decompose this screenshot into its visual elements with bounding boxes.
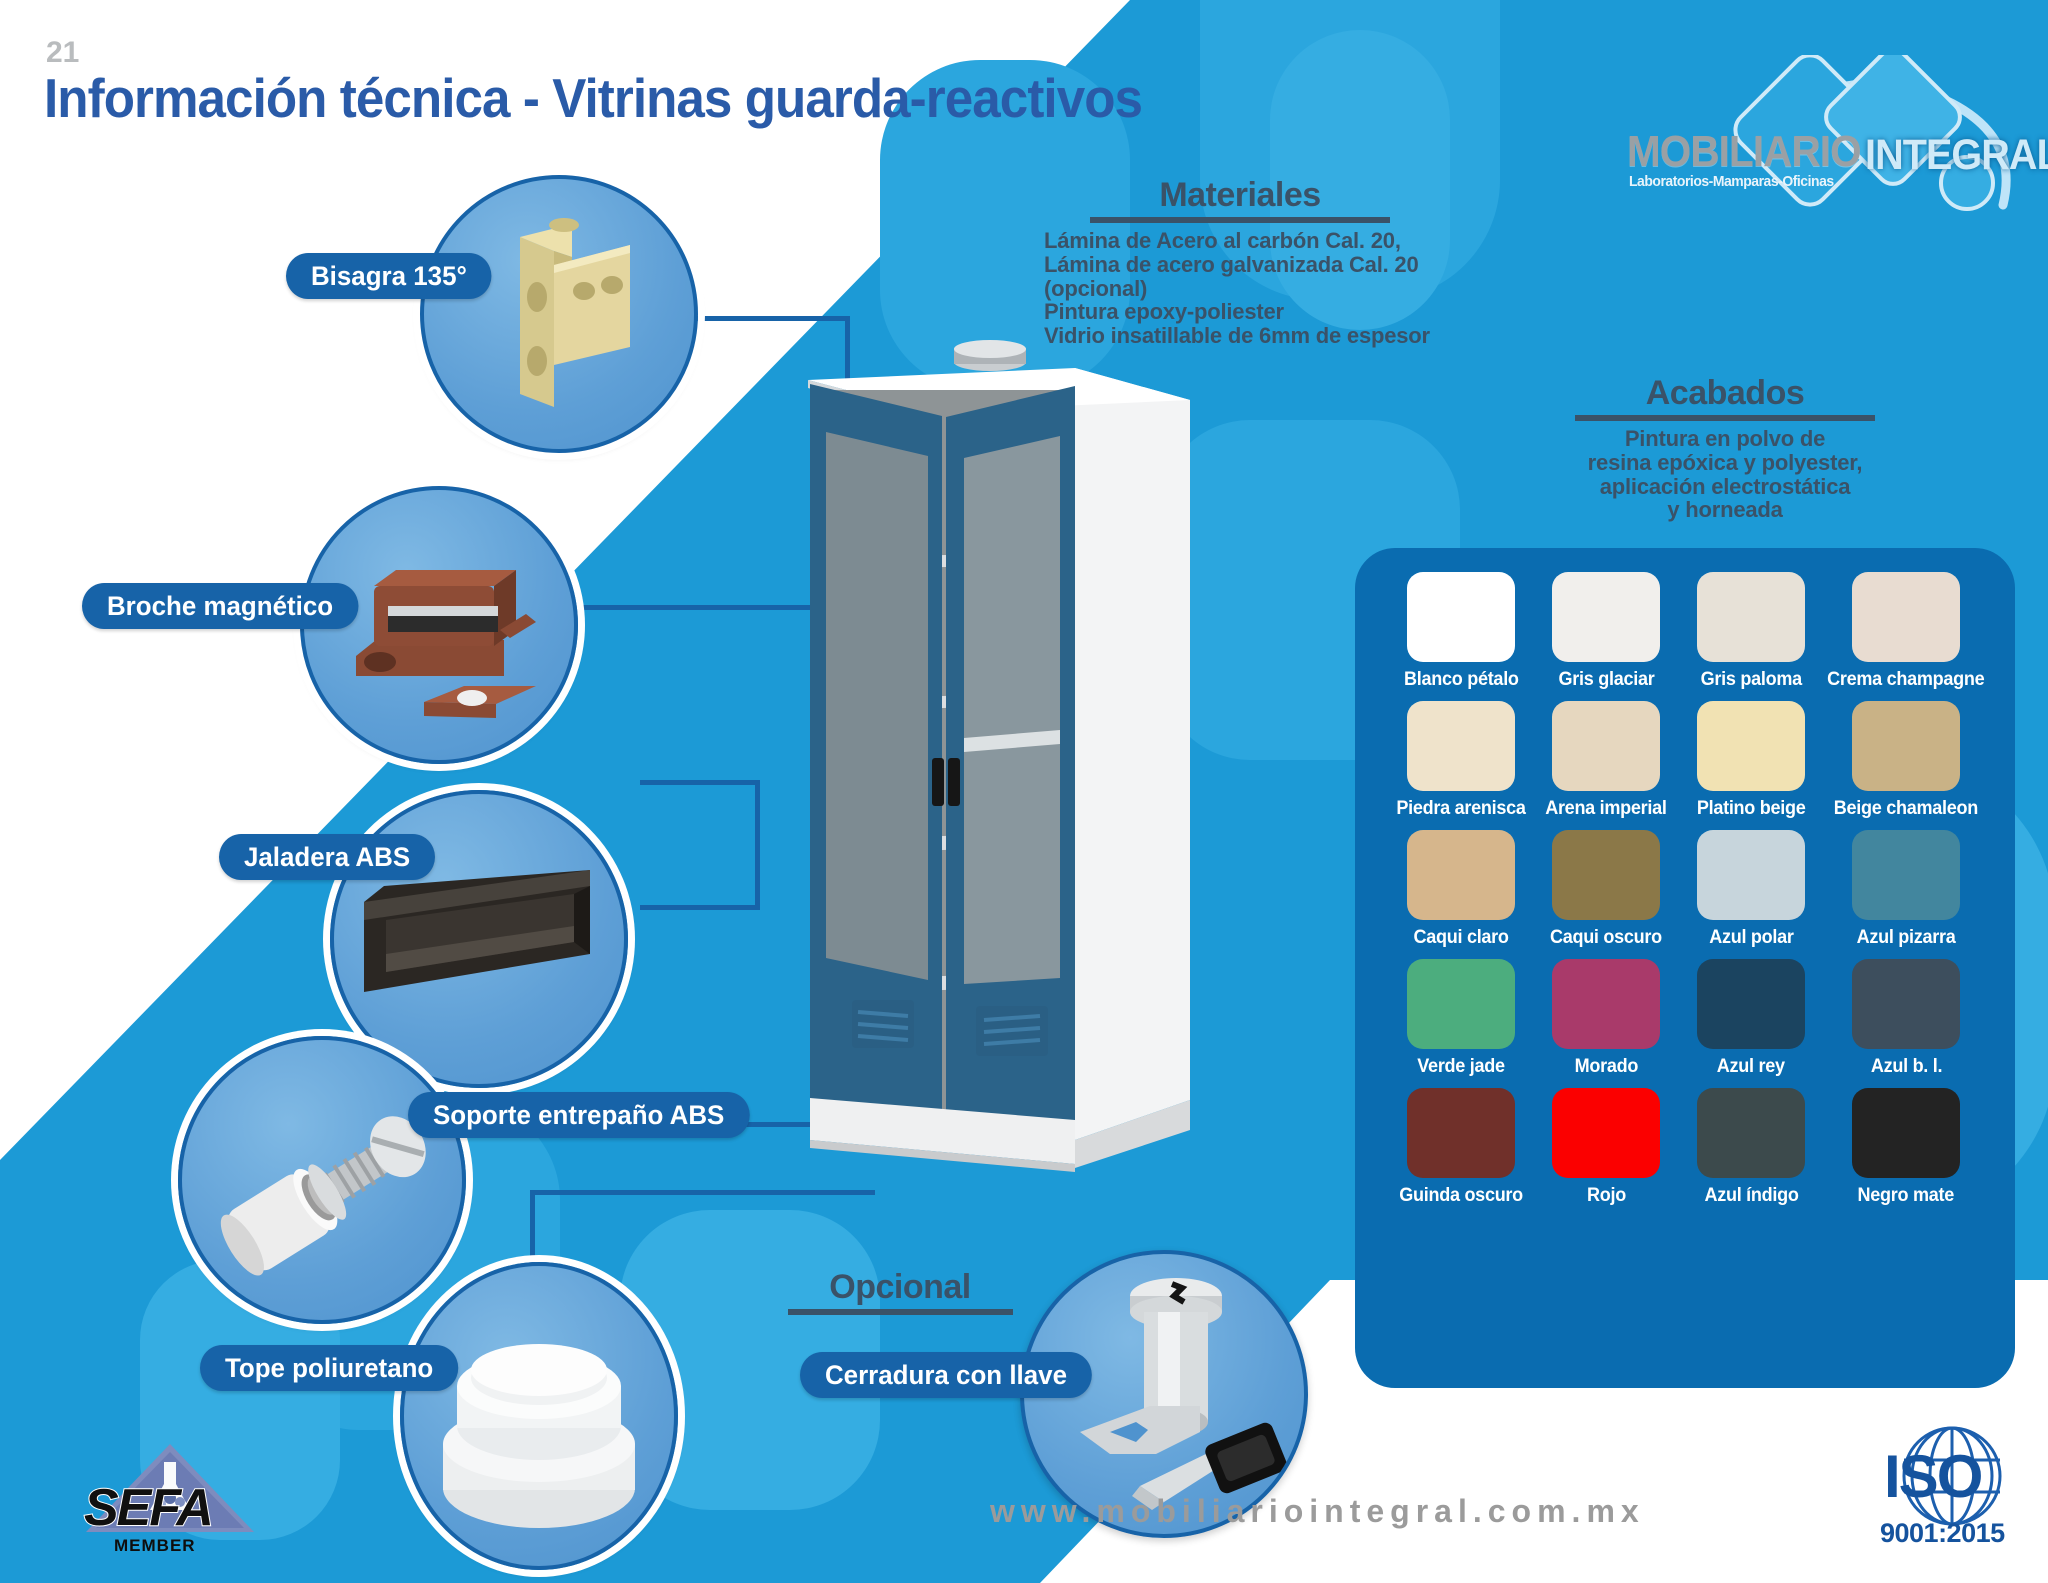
materiales-line: Lámina de Acero al carbón Cal. 20, xyxy=(1044,229,1450,253)
swatch-label: Azul b. l. xyxy=(1871,1056,1942,1078)
color-swatch-panel: Blanco pétalo Gris glaciar Gris paloma C… xyxy=(1355,548,2015,1388)
brand-logo: MOBILIARIO INTEGRAL Laboratorios-Mampara… xyxy=(1615,55,2035,215)
acabados-line: y horneada xyxy=(1510,498,1940,522)
callout-label-broche[interactable]: Broche magnético xyxy=(82,583,358,629)
swatch-chip xyxy=(1697,1088,1805,1178)
color-swatch[interactable]: Crema champagne xyxy=(1823,572,1989,691)
swatch-chip xyxy=(1407,1088,1515,1178)
swatch-chip xyxy=(1552,572,1660,662)
swatch-label: Crema champagne xyxy=(1828,669,1985,691)
acabados-title: Acabados xyxy=(1510,374,1940,413)
callout-label-cerradura[interactable]: Cerradura con llave xyxy=(800,1352,1092,1398)
color-swatch[interactable]: Azul pizarra xyxy=(1823,830,1989,949)
color-swatch[interactable]: Guinda oscuro xyxy=(1389,1088,1534,1207)
swatch-chip xyxy=(1407,572,1515,662)
swatch-chip xyxy=(1852,1088,1960,1178)
website-url[interactable]: www.mobiliariointegral.com.mx xyxy=(990,1493,1645,1530)
color-swatch[interactable]: Blanco pétalo xyxy=(1389,572,1534,691)
page-number: 21 xyxy=(46,36,79,70)
swatch-chip xyxy=(1407,830,1515,920)
swatch-label: Platino beige xyxy=(1697,798,1806,820)
color-swatch[interactable]: Caqui claro xyxy=(1389,830,1534,949)
connector-tope-h xyxy=(530,1190,875,1195)
materiales-body: Lámina de Acero al carbón Cal. 20, Lámin… xyxy=(1044,229,1450,348)
swatch-chip xyxy=(1552,830,1660,920)
color-swatch[interactable]: Azul rey xyxy=(1679,959,1824,1078)
iso-wordmark: ISO xyxy=(1884,1442,1981,1511)
callout-label-tope[interactable]: Tope poliuretano xyxy=(200,1345,458,1391)
swatch-label: Blanco pétalo xyxy=(1404,669,1519,691)
sefa-logo: SEFA MEMBER xyxy=(78,1440,268,1560)
color-swatch[interactable]: Gris glaciar xyxy=(1534,572,1679,691)
swatch-chip xyxy=(1697,959,1805,1049)
color-swatch[interactable]: Azul polar xyxy=(1679,830,1824,949)
swatch-label: Morado xyxy=(1574,1056,1637,1078)
acabados-line: resina epóxica y polyester, xyxy=(1510,451,1940,475)
swatch-label: Arena imperial xyxy=(1546,798,1667,820)
color-swatch[interactable]: Gris paloma xyxy=(1679,572,1824,691)
callout-label-bisagra[interactable]: Bisagra 135° xyxy=(286,253,492,299)
swatch-chip xyxy=(1852,830,1960,920)
iso-certification-badge: ISO 9001:2015 xyxy=(1878,1420,2028,1570)
acabados-section: Acabados Pintura en polvo de resina epóx… xyxy=(1510,374,1940,522)
materiales-line: Pintura epoxy-poliester xyxy=(1044,300,1450,324)
swatch-label: Gris glaciar xyxy=(1558,669,1654,691)
color-swatch[interactable]: Arena imperial xyxy=(1534,701,1679,820)
swatch-label: Guinda oscuro xyxy=(1400,1185,1524,1207)
logo-wordmark-2: INTEGRAL xyxy=(1865,131,2048,180)
color-swatch[interactable]: Negro mate xyxy=(1823,1088,1989,1207)
page-title: Información técnica - Vitrinas guarda-re… xyxy=(44,66,1142,130)
sefa-member-label: MEMBER xyxy=(114,1536,196,1556)
connector-bisagra-h1 xyxy=(690,316,850,321)
materiales-line: Lámina de acero galvanizada Cal. 20 (opc… xyxy=(1044,253,1450,301)
color-swatch[interactable]: Verde jade xyxy=(1389,959,1534,1078)
connector-jaladera-h2 xyxy=(640,905,760,910)
polyurethane-bumper-icon xyxy=(404,1266,674,1566)
logo-wordmark: MOBILIARIO xyxy=(1627,127,1861,177)
swatch-label: Azul polar xyxy=(1709,927,1793,949)
swatch-label: Piedra arenisca xyxy=(1397,798,1526,820)
swatch-chip xyxy=(1852,572,1960,662)
swatch-label: Beige chamaleon xyxy=(1834,798,1978,820)
poster-canvas: 21 Información técnica - Vitrinas guarda… xyxy=(0,0,2048,1583)
swatch-chip xyxy=(1697,830,1805,920)
acabados-rule xyxy=(1575,415,1875,421)
swatch-chip xyxy=(1552,701,1660,791)
acabados-line: Pintura en polvo de xyxy=(1510,427,1940,451)
hinge-icon xyxy=(424,179,694,449)
callout-circle-soporte xyxy=(178,1036,466,1324)
connector-tope-v xyxy=(530,1190,535,1270)
swatch-label: Azul índigo xyxy=(1704,1185,1798,1207)
swatch-chip xyxy=(1552,1088,1660,1178)
swatch-chip xyxy=(1697,701,1805,791)
swatch-chip xyxy=(1697,572,1805,662)
color-swatch[interactable]: Beige chamaleon xyxy=(1823,701,1989,820)
swatch-label: Rojo xyxy=(1587,1185,1626,1207)
color-swatch[interactable]: Azul b. l. xyxy=(1823,959,1989,1078)
acabados-line: aplicación electrostática xyxy=(1510,475,1940,499)
opcional-title: Opcional xyxy=(770,1268,1030,1307)
cabinet-illustration xyxy=(790,340,1200,1180)
color-swatch[interactable]: Rojo xyxy=(1534,1088,1679,1207)
swatch-chip xyxy=(1407,701,1515,791)
swatch-chip xyxy=(1552,959,1660,1049)
opcional-rule xyxy=(788,1309,1013,1315)
swatch-chip xyxy=(1852,701,1960,791)
swatch-label: Verde jade xyxy=(1418,1056,1505,1078)
color-swatch[interactable]: Caqui oscuro xyxy=(1534,830,1679,949)
swatch-label: Gris paloma xyxy=(1700,669,1801,691)
swatch-label: Azul pizarra xyxy=(1857,927,1956,949)
sefa-wordmark: SEFA xyxy=(84,1478,212,1538)
materiales-rule xyxy=(1090,217,1390,223)
callout-circle-tope xyxy=(400,1262,678,1570)
callout-label-jaladera[interactable]: Jaladera ABS xyxy=(219,834,435,880)
callout-circle-bisagra xyxy=(420,175,698,453)
callout-label-soporte[interactable]: Soporte entrepaño ABS xyxy=(408,1092,749,1138)
opcional-section: Opcional xyxy=(770,1268,1030,1321)
swatch-chip xyxy=(1407,959,1515,1049)
logo-tagline: Laboratorios-Mamparas-Oficinas xyxy=(1629,173,1834,190)
color-swatch[interactable]: Morado xyxy=(1534,959,1679,1078)
iso-standard-number: 9001:2015 xyxy=(1880,1518,2005,1549)
shelf-support-screw-icon xyxy=(182,1040,462,1320)
acabados-body: Pintura en polvo de resina epóxica y pol… xyxy=(1510,427,1940,522)
materiales-section: Materiales Lámina de Acero al carbón Cal… xyxy=(1030,176,1450,348)
swatch-label: Negro mate xyxy=(1858,1185,1954,1207)
color-swatch[interactable]: Azul índigo xyxy=(1679,1088,1824,1207)
connector-jaladera-h xyxy=(640,780,760,785)
swatch-chip xyxy=(1852,959,1960,1049)
materiales-title: Materiales xyxy=(1030,176,1450,215)
color-swatch[interactable]: Platino beige xyxy=(1679,701,1824,820)
swatch-label: Azul rey xyxy=(1717,1056,1785,1078)
swatch-label: Caqui oscuro xyxy=(1550,927,1662,949)
color-swatch-grid: Blanco pétalo Gris glaciar Gris paloma C… xyxy=(1389,572,1989,1207)
swatch-label: Caqui claro xyxy=(1414,927,1509,949)
connector-jaladera-v xyxy=(755,780,760,910)
color-swatch[interactable]: Piedra arenisca xyxy=(1389,701,1534,820)
